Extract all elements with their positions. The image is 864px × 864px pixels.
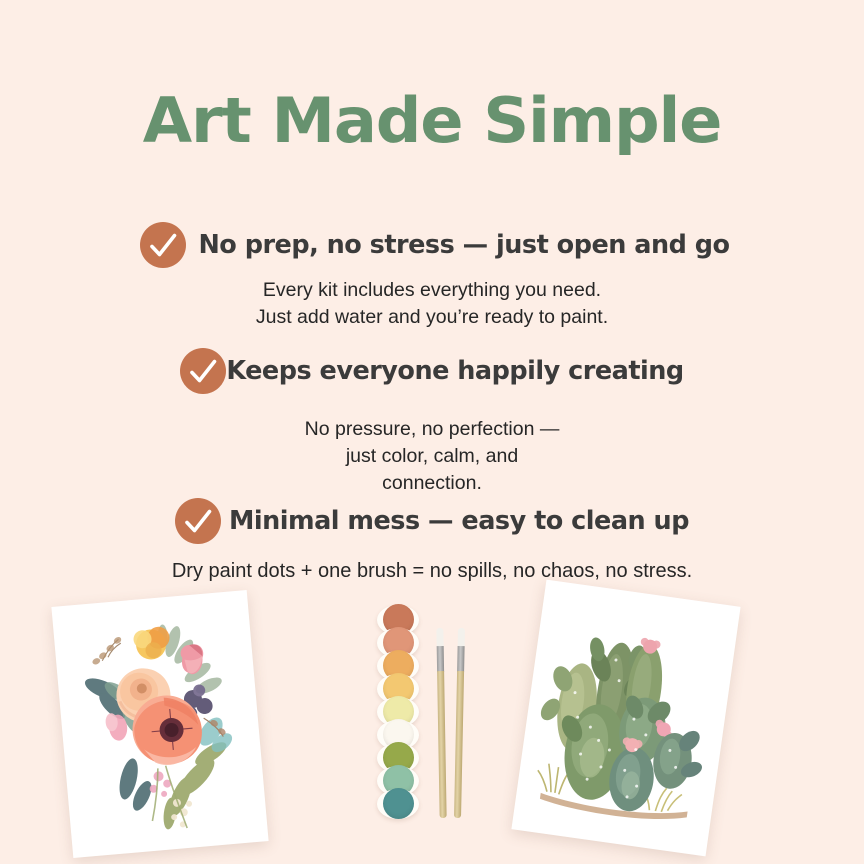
feature-heading-row: Keeps everyone happily creating xyxy=(0,348,864,394)
feature-block-3: Minimal mess — easy to clean up Dry pain… xyxy=(0,498,864,586)
paint-brush-pair xyxy=(432,628,478,818)
feature-body: Every kit includes everything you need. … xyxy=(0,277,864,331)
feature-body: No pressure, no perfection — just color,… xyxy=(0,416,864,497)
feature-block-2: Keeps everyone happily creating No press… xyxy=(0,348,864,497)
check-circle-icon xyxy=(140,222,186,268)
page-title: Art Made Simple xyxy=(0,84,864,157)
watercolor-floral-bouquet-card xyxy=(51,590,268,858)
feature-title: Minimal mess — easy to clean up xyxy=(229,506,689,536)
feature-body-line: Every kit includes everything you need. xyxy=(0,277,864,304)
feature-body-line: Dry paint dots + one brush = no spills, … xyxy=(0,558,864,586)
brush-handle xyxy=(454,671,464,818)
paint-dot xyxy=(383,788,414,819)
feature-body-line: connection. xyxy=(0,470,864,497)
paint-dot-slot xyxy=(376,792,420,815)
brush-ferrule xyxy=(437,646,444,672)
watercolor-cactus-card xyxy=(511,580,740,857)
feature-title: Keeps everyone happily creating xyxy=(226,356,683,386)
check-circle-icon xyxy=(180,348,226,394)
paint-brush xyxy=(454,628,465,818)
feature-body-line: just color, calm, and xyxy=(0,443,864,470)
feature-body-line: Just add water and you’re ready to paint… xyxy=(0,304,864,331)
feature-title: No prep, no stress — just open and go xyxy=(198,230,729,260)
feature-heading-row: Minimal mess — easy to clean up xyxy=(0,498,864,544)
paint-dot-strip xyxy=(372,608,424,815)
brush-handle xyxy=(437,671,447,818)
feature-heading-row: No prep, no stress — just open and go xyxy=(0,222,864,268)
brush-ferrule xyxy=(457,646,465,672)
paint-brush xyxy=(436,628,446,818)
feature-body: Dry paint dots + one brush = no spills, … xyxy=(0,558,864,586)
feature-block-1: No prep, no stress — just open and go Ev… xyxy=(0,222,864,331)
check-circle-icon xyxy=(175,498,221,544)
poster-canvas: Art Made Simple No prep, no stress — jus… xyxy=(0,0,864,864)
feature-body-line: No pressure, no perfection — xyxy=(0,416,864,443)
